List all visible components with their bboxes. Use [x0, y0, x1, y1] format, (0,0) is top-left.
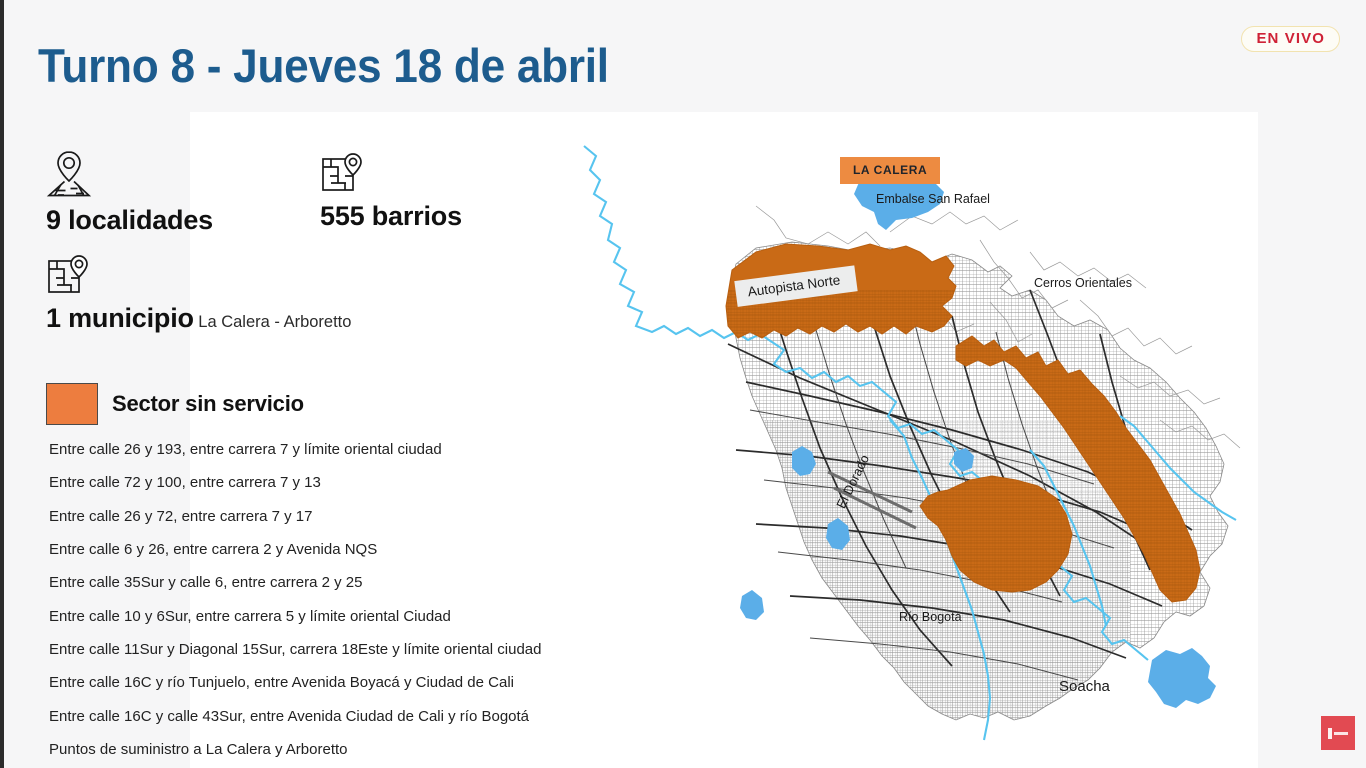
map-badge-la-calera: LA CALERA	[840, 157, 940, 184]
map-graphic	[560, 120, 1260, 765]
bogota-service-map	[560, 120, 1260, 765]
stat-value: 555 barrios	[320, 201, 462, 231]
map-pin-grid-icon	[46, 252, 351, 303]
map-label-soacha: Soacha	[1059, 678, 1110, 695]
stat-municipio: 1 municipio La Calera - Arboretto	[46, 252, 351, 334]
logo-mark-bar	[1328, 728, 1332, 739]
legend: Sector sin servicio	[46, 383, 304, 425]
slide-root: EN VIVO Turno 8 - Jueves 18 de abril 9 l…	[0, 0, 1366, 768]
broadcaster-logo	[1321, 716, 1355, 750]
stat-localidades: 9 localidades	[46, 148, 213, 236]
page-title: Turno 8 - Jueves 18 de abril	[38, 38, 609, 93]
logo-mark-word	[1334, 732, 1348, 735]
muna-lake-shape	[1148, 648, 1216, 708]
status-badge-live: EN VIVO	[1241, 26, 1340, 52]
left-edge-strip	[0, 0, 4, 768]
stat-barrios: 555 barrios	[320, 150, 462, 232]
stat-subtitle: La Calera - Arboretto	[198, 313, 351, 331]
stat-value: 1 municipio	[46, 303, 194, 333]
map-label-cerros-orientales: Cerros Orientales	[1034, 276, 1132, 290]
map-pin-grid-icon	[320, 150, 462, 201]
legend-color-swatch	[46, 383, 98, 425]
stat-value: 9 localidades	[46, 205, 213, 235]
map-label-rio-bogota: Río Bogotá	[899, 610, 962, 624]
map-pin-area-icon	[46, 148, 213, 205]
legend-label: Sector sin servicio	[112, 391, 304, 417]
map-label-embalse-san-rafael: Embalse San Rafael	[876, 192, 990, 206]
